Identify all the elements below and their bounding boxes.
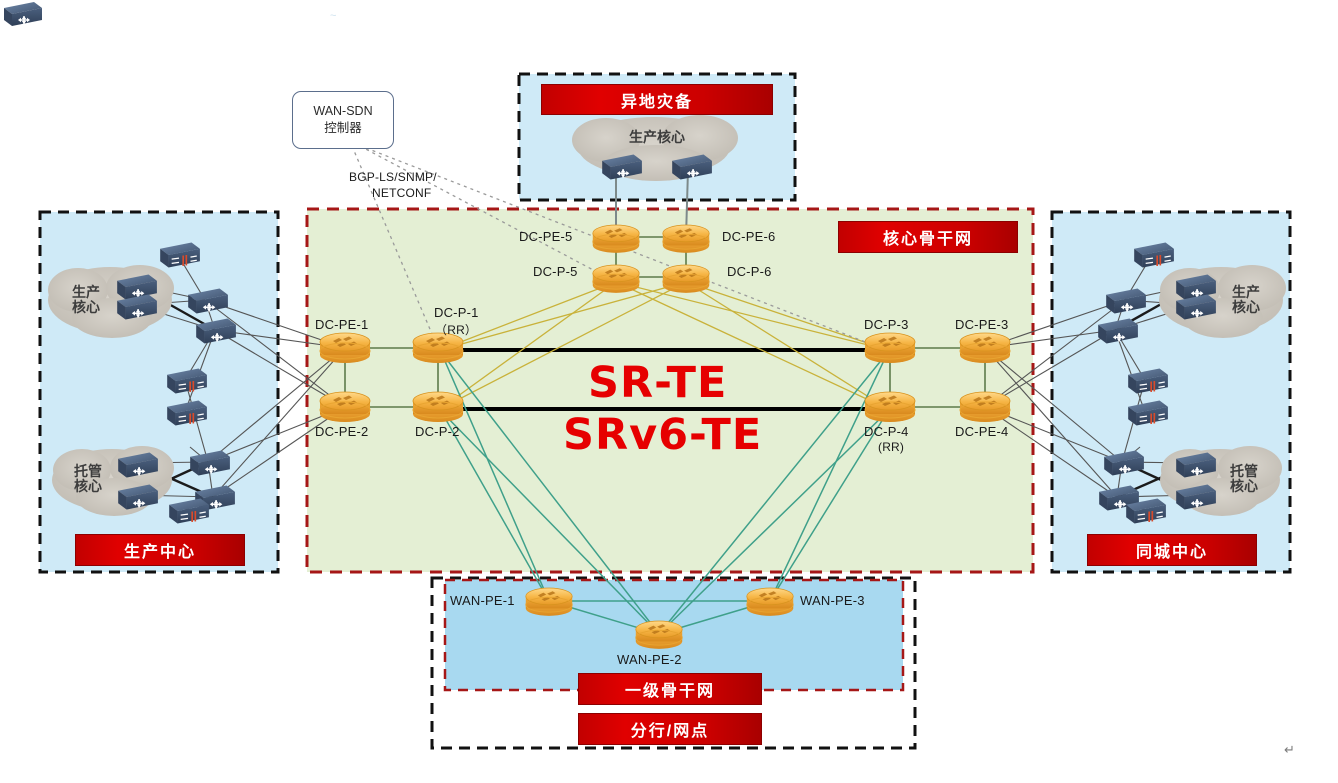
firewall-icon (167, 400, 207, 425)
banner-branch: 分行/网点 (578, 713, 762, 745)
router-label-wan-pe-3: WAN-PE-3 (800, 593, 865, 608)
router-label-wan-pe-1: WAN-PE-1 (450, 593, 515, 608)
switch-icon (118, 452, 158, 477)
banner-core-backbone: 核心骨干网 (838, 221, 1018, 253)
diagram-canvas: 生产核心 托管核心 生产核心 托管核心 生产核心 (0, 0, 1338, 783)
router-label-dc-pe-6: DC-PE-6 (722, 229, 775, 244)
switch-icon (117, 274, 157, 299)
firewall-icon (1128, 400, 1168, 425)
top-artifact: ~ (330, 10, 336, 22)
srv6-te-label: SRv6-TE (563, 410, 762, 460)
banner-metro-center: 同城中心 (1087, 534, 1257, 566)
switch-icon-group-left (4, 2, 42, 26)
router-icon-dc-pe-6 (663, 225, 709, 253)
switch-icon (1106, 288, 1146, 313)
controller-name: WAN-SDN (313, 103, 372, 120)
router-sublabel-dc-p-4: (RR) (878, 440, 904, 454)
router-icon-dc-p-4 (865, 392, 915, 422)
router-label-dc-p-4: DC-P-4 (864, 424, 909, 439)
router-label-dc-p-1: DC-P-1 (434, 305, 479, 320)
router-icon-dc-p-3 (865, 333, 915, 363)
router-label-dc-pe-3: DC-PE-3 (955, 317, 1008, 332)
switch-icon (602, 154, 642, 179)
router-sublabel-dc-p-1: （RR） (435, 321, 477, 338)
banner-primary-backbone: 一级骨干网 (578, 673, 762, 705)
banner-remote-dr: 异地灾备 (541, 84, 773, 115)
switch-icon (672, 154, 712, 179)
router-icon-dc-p-5 (593, 265, 639, 293)
router-icon-dc-pe-5 (593, 225, 639, 253)
firewall-icon (160, 242, 200, 267)
router-label-dc-p-2: DC-P-2 (415, 424, 460, 439)
router-label-wan-pe-2: WAN-PE-2 (617, 652, 682, 667)
router-icon-dc-pe-4 (960, 392, 1010, 422)
banner-production-center: 生产中心 (75, 534, 245, 566)
firewall-icon (1134, 242, 1174, 267)
router-icon-dc-pe-3 (960, 333, 1010, 363)
router-icon-dc-p-2 (413, 392, 463, 422)
switch-icon (190, 450, 230, 475)
switch-icon (1176, 294, 1216, 319)
switch-icon (188, 288, 228, 313)
firewall-icon (169, 498, 209, 523)
switch-icon (118, 484, 158, 509)
router-icon-wan-pe-1 (526, 588, 572, 616)
router-icon-dc-p-6 (663, 265, 709, 293)
paragraph-mark: ↵ (1284, 742, 1295, 758)
router-icon-wan-pe-3 (747, 588, 793, 616)
router-label-dc-p-6: DC-P-6 (727, 264, 772, 279)
switch-icon (1098, 318, 1138, 343)
router-icon-dc-pe-2 (320, 392, 370, 422)
router-label-dc-pe-4: DC-PE-4 (955, 424, 1008, 439)
controller-subtitle: 控制器 (324, 120, 362, 137)
router-label-dc-pe-1: DC-PE-1 (315, 317, 368, 332)
switch-icon (1104, 450, 1144, 475)
switch-icon (196, 318, 236, 343)
router-icon-dc-pe-1 (320, 333, 370, 363)
controller-protocol-label-line2: NETCONF (372, 186, 431, 200)
firewall-icon (1128, 368, 1168, 393)
switch-icon (1176, 484, 1216, 509)
router-label-dc-p-3: DC-P-3 (864, 317, 909, 332)
wan-sdn-controller-box[interactable]: WAN-SDN 控制器 (292, 91, 394, 149)
sr-te-label: SR-TE (588, 358, 727, 408)
router-label-dc-pe-5: DC-PE-5 (519, 229, 572, 244)
switch-icon (1176, 452, 1216, 477)
router-icon-wan-pe-2 (636, 621, 682, 649)
firewall-icon (167, 368, 207, 393)
switch-icon (1176, 274, 1216, 299)
router-label-dc-p-5: DC-P-5 (533, 264, 578, 279)
router-label-dc-pe-2: DC-PE-2 (315, 424, 368, 439)
switch-icon (117, 294, 157, 319)
controller-protocol-label-line1: BGP-LS/SNMP/ (349, 170, 437, 184)
